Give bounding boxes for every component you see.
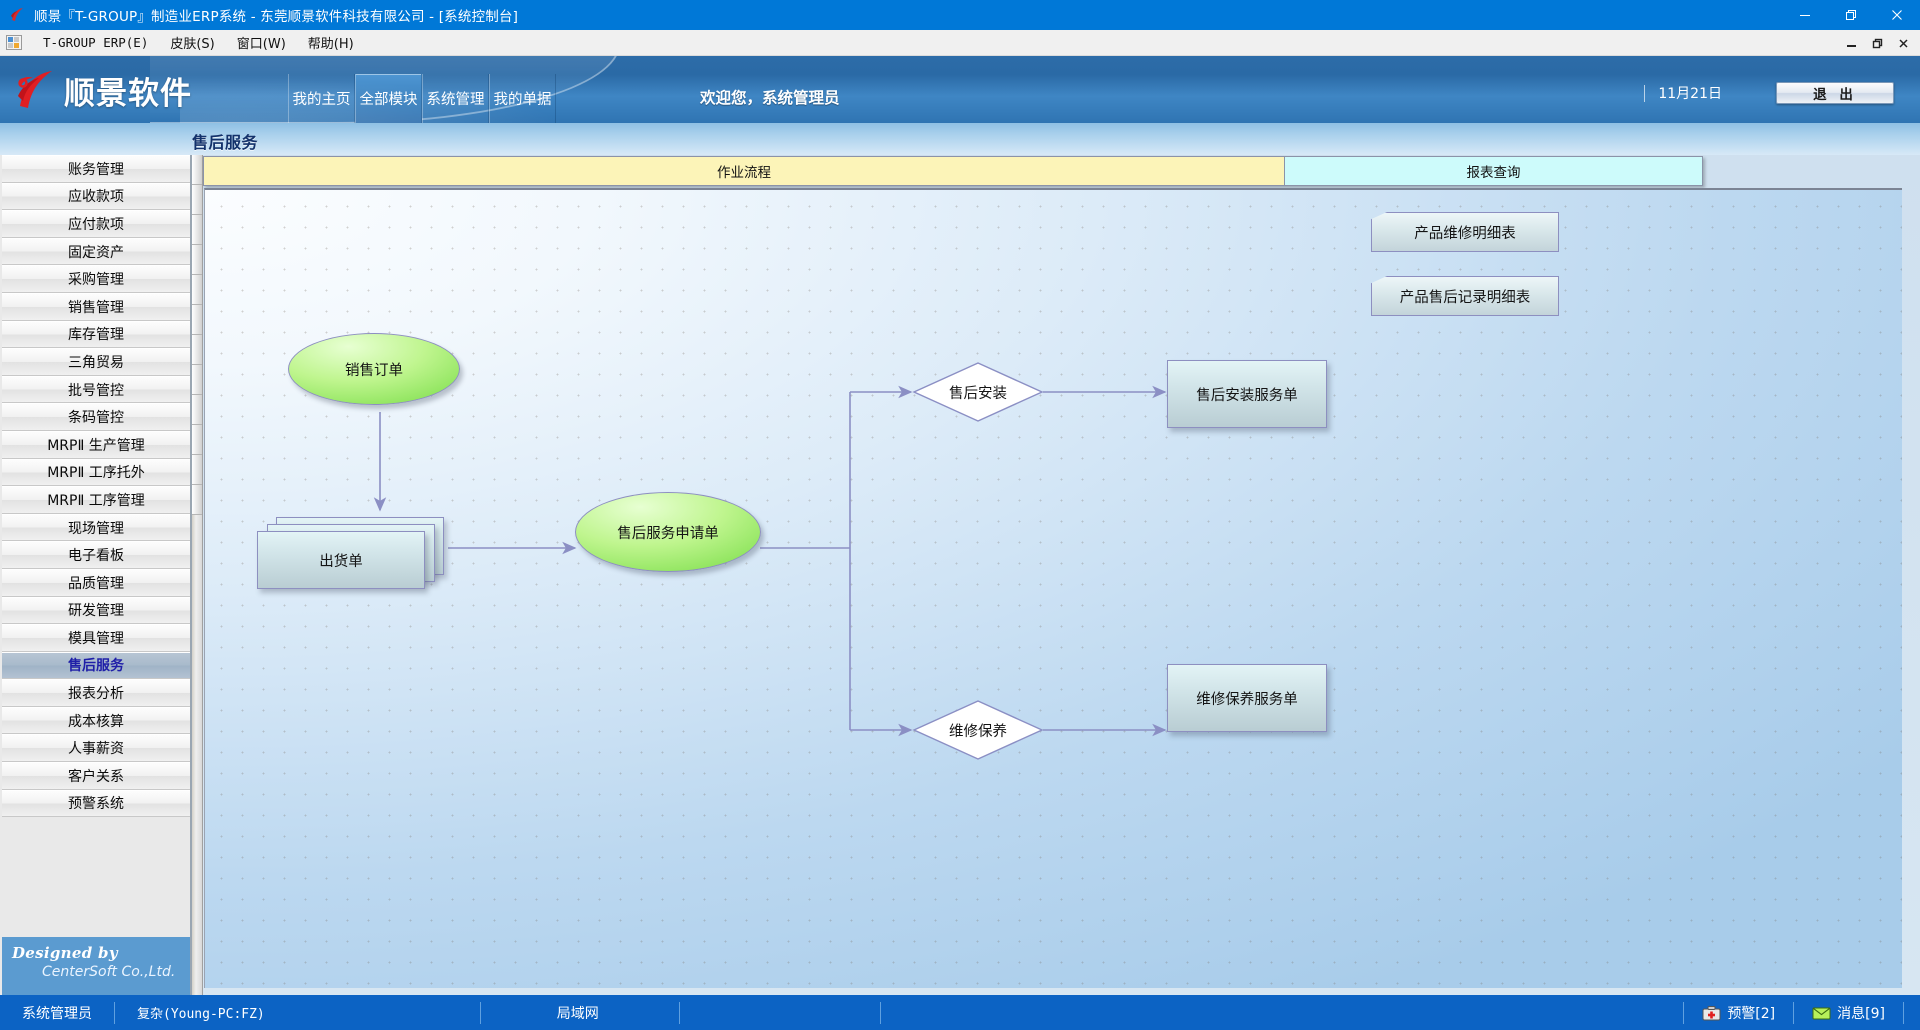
sidebar-item-label: MRPⅡ 生产管理 (47, 435, 145, 455)
sidebar-item-label: 品质管理 (68, 573, 124, 593)
sidebar-item-label: 人事薪资 (68, 738, 124, 758)
sidebar-item-2[interactable]: 应付款项 (2, 210, 190, 238)
status-user: 系统管理员 (22, 1003, 92, 1023)
status-divider (1793, 1002, 1794, 1024)
brand-logo: 顺景软件 (14, 66, 192, 114)
tab-work-flow-label: 作业流程 (717, 161, 771, 181)
sidebar-menu-list: 账务管理应收款项应付款项固定资产采购管理销售管理库存管理三角贸易批号管控条码管控… (2, 155, 190, 817)
status-divider (1683, 1002, 1684, 1024)
sidebar-item-15[interactable]: 品质管理 (2, 569, 190, 597)
report-button-after-sales-record[interactable]: 产品售后记录明细表 (1371, 276, 1559, 316)
sidebar-item-label: 三角贸易 (68, 352, 124, 372)
sidebar-item-label: 采购管理 (68, 269, 124, 289)
sidebar-item-label: 研发管理 (68, 600, 124, 620)
sidebar-item-22[interactable]: 客户关系 (2, 762, 190, 790)
status-messages-label: 消息[9] (1837, 1003, 1885, 1023)
header-divider (1644, 85, 1645, 102)
report-button-repair-detail[interactable]: 产品维修明细表 (1371, 212, 1559, 252)
sidebar-item-label: 销售管理 (68, 297, 124, 317)
flow-node-service-request[interactable]: 售后服务申请单 (575, 492, 761, 572)
menu-item-window[interactable]: 窗口(W) (226, 31, 297, 54)
flow-node-shipment-note-label: 出货单 (319, 550, 363, 571)
tab-report-query-label: 报表查询 (1467, 161, 1521, 181)
sidebar-item-16[interactable]: 研发管理 (2, 597, 190, 625)
scroll-seg (192, 155, 202, 185)
sidebar-item-label: 现场管理 (68, 518, 124, 538)
sidebar-item-0[interactable]: 账务管理 (2, 155, 190, 183)
alert-kit-icon (1702, 1005, 1721, 1021)
mdi-close-icon[interactable] (1890, 30, 1916, 56)
mail-icon (1812, 1005, 1831, 1021)
sidebar-item-label: 客户关系 (68, 766, 124, 786)
welcome-message: 欢迎您，系统管理员 (700, 86, 840, 108)
nav-tab-my-documents-label: 我的单据 (494, 88, 552, 109)
nav-tab-home[interactable]: 我的主页 (288, 74, 355, 123)
status-divider (480, 1002, 481, 1024)
brand-header: 顺景软件 我的主页 全部模块 系统管理 我的单据 欢迎您，系统管理员 11月21… (0, 56, 1920, 123)
flow-node-install-order[interactable]: 售后安装服务单 (1167, 360, 1327, 428)
nav-tab-all-modules-label: 全部模块 (360, 88, 418, 109)
shunjing-logo-icon (14, 68, 58, 112)
sidebar-item-label: 售后服务 (68, 655, 124, 675)
page-title: 售后服务 (192, 129, 258, 153)
sidebar-item-21[interactable]: 人事薪资 (2, 734, 190, 762)
sidebar-item-label: 库存管理 (68, 324, 124, 344)
sidebar-item-13[interactable]: 现场管理 (2, 514, 190, 542)
status-network: 局域网 (557, 1003, 599, 1023)
sidebar-item-label: 应付款项 (68, 214, 124, 234)
scroll-seg (192, 425, 202, 455)
sidebar-item-9[interactable]: 条码管控 (2, 403, 190, 431)
page-title-band (0, 123, 1920, 155)
sidebar-item-19[interactable]: 报表分析 (2, 679, 190, 707)
application-menu-bar: T-GROUP ERP(E) 皮肤(S) 窗口(W) 帮助(H) (0, 30, 1920, 56)
sidebar-item-1[interactable]: 应收款项 (2, 183, 190, 211)
sidebar-item-4[interactable]: 采购管理 (2, 265, 190, 293)
nav-tab-my-documents[interactable]: 我的单据 (489, 74, 556, 123)
status-divider (880, 1002, 881, 1024)
maximize-restore-icon[interactable] (1828, 0, 1874, 30)
minimize-icon[interactable] (1782, 0, 1828, 30)
flow-node-maintain-order-label: 维修保养服务单 (1196, 688, 1298, 709)
sidebar-item-12[interactable]: MRPⅡ 工序管理 (2, 486, 190, 514)
sidebar-item-23[interactable]: 预警系统 (2, 790, 190, 818)
status-divider (679, 1002, 680, 1024)
sidebar-item-5[interactable]: 销售管理 (2, 293, 190, 321)
sidebar-item-label: 账务管理 (68, 159, 124, 179)
status-divider (1903, 1002, 1904, 1024)
sidebar-item-label: MRPⅡ 工序管理 (47, 490, 145, 510)
tab-work-flow[interactable]: 作业流程 (203, 156, 1285, 186)
content-tab-row: 作业流程 报表查询 (203, 156, 1703, 186)
sidebar-item-18[interactable]: 售后服务 (2, 652, 190, 680)
sidebar-item-8[interactable]: 批号管控 (2, 376, 190, 404)
nav-tab-system-admin[interactable]: 系统管理 (422, 74, 489, 123)
sidebar-item-7[interactable]: 三角贸易 (2, 348, 190, 376)
flow-node-service-request-label: 售后服务申请单 (617, 522, 719, 543)
sidebar-item-label: 固定资产 (68, 242, 124, 262)
flow-node-install-decision[interactable]: 售后安装 (911, 360, 1045, 424)
mdi-restore-icon[interactable] (1864, 30, 1890, 56)
status-messages[interactable]: 消息[9] (1812, 1003, 1885, 1023)
status-database: 复杂(Young-PC:FZ) (137, 1003, 265, 1022)
flowchart-canvas: 销售订单 出货单 售后服务申请单 售后安装 维修保养 (204, 188, 1902, 988)
scroll-seg (192, 185, 202, 215)
nav-tab-system-admin-label: 系统管理 (427, 88, 485, 109)
flow-connectors (205, 190, 1902, 988)
brand-logo-text: 顺景软件 (64, 68, 192, 113)
sidebar-item-20[interactable]: 成本核算 (2, 707, 190, 735)
window-title-text: 顺景『T-GROUP』制造业ERP系统 - 东莞顺景软件科技有限公司 - [系统… (34, 5, 518, 25)
status-alerts[interactable]: 预警[2] (1702, 1003, 1775, 1023)
menu-item-help[interactable]: 帮助(H) (297, 31, 365, 54)
credit-line-2: CenterSoft Co.,Ltd. (42, 964, 190, 980)
nav-tab-home-label: 我的主页 (293, 88, 351, 109)
close-icon[interactable] (1874, 0, 1920, 30)
flow-node-maintain-decision[interactable]: 维修保养 (911, 698, 1045, 762)
logout-button-label: 退 出 (1813, 83, 1857, 103)
window-controls (1782, 0, 1920, 30)
flow-node-shipment-note[interactable]: 出货单 (257, 517, 449, 589)
status-alerts-label: 预警[2] (1727, 1003, 1775, 1023)
shipment-note-stack-front: 出货单 (257, 531, 425, 589)
scroll-seg (192, 305, 202, 335)
mdi-window-icon (6, 35, 22, 50)
window-title-bar: 顺景『T-GROUP』制造业ERP系统 - 东莞顺景软件科技有限公司 - [系统… (0, 0, 1920, 30)
menu-item-erp[interactable]: T-GROUP ERP(E) (32, 33, 159, 52)
app-logo-icon (10, 7, 26, 23)
sidebar-footer-credit: Designed by CenterSoft Co.,Ltd. (2, 937, 190, 995)
scroll-seg (192, 245, 202, 275)
flow-node-maintain-order[interactable]: 维修保养服务单 (1167, 664, 1327, 732)
credit-line-1: Designed by (12, 944, 190, 962)
report-button-repair-detail-label: 产品维修明细表 (1414, 222, 1516, 243)
sidebar-item-label: 条码管控 (68, 407, 124, 427)
sidebar-item-14[interactable]: 电子看板 (2, 541, 190, 569)
page-title-strip (0, 123, 1920, 155)
report-button-after-sales-record-label: 产品售后记录明细表 (1400, 286, 1531, 307)
sidebar-item-label: 电子看板 (68, 545, 124, 565)
main-panel: 作业流程 报表查询 (192, 155, 1920, 995)
sidebar-item-label: 模具管理 (68, 628, 124, 648)
flow-node-install-order-label: 售后安装服务单 (1196, 384, 1298, 405)
mdi-minimize-icon[interactable] (1838, 30, 1864, 56)
header-date: 11月21日 (1658, 83, 1722, 103)
scroll-seg (192, 275, 202, 305)
sidebar-item-17[interactable]: 模具管理 (2, 624, 190, 652)
sidebar-item-6[interactable]: 库存管理 (2, 321, 190, 349)
flow-node-maintain-decision-label: 维修保养 (911, 698, 1045, 762)
sidebar-item-label: 预警系统 (68, 793, 124, 813)
menu-item-skin[interactable]: 皮肤(S) (159, 31, 225, 54)
left-scroll-strip[interactable] (192, 155, 203, 995)
header-right-group: 11月21日 退 出 (1644, 82, 1894, 104)
sidebar-item-label: 报表分析 (68, 683, 124, 703)
scroll-seg (192, 215, 202, 245)
scroll-seg (192, 395, 202, 425)
scroll-seg (192, 485, 202, 515)
status-bar: 系统管理员 复杂(Young-PC:FZ) 局域网 预警[2] 消息[9] (0, 995, 1920, 1030)
status-divider (114, 1002, 115, 1024)
sidebar-item-3[interactable]: 固定资产 (2, 238, 190, 266)
logout-button[interactable]: 退 出 (1776, 82, 1894, 104)
flow-node-sales-order[interactable]: 销售订单 (288, 333, 460, 405)
sidebar-item-label: 应收款项 (68, 186, 124, 206)
flow-node-sales-order-label: 销售订单 (345, 359, 403, 380)
scroll-seg (192, 335, 202, 365)
flow-node-install-decision-label: 售后安装 (911, 360, 1045, 424)
nav-tab-all-modules[interactable]: 全部模块 (355, 74, 422, 123)
sidebar: 账务管理应收款项应付款项固定资产采购管理销售管理库存管理三角贸易批号管控条码管控… (0, 155, 192, 995)
tab-report-query[interactable]: 报表查询 (1285, 156, 1703, 186)
scroll-seg (192, 365, 202, 395)
sidebar-item-label: 成本核算 (68, 711, 124, 731)
header-nav: 我的主页 全部模块 系统管理 我的单据 (288, 74, 556, 123)
sidebar-item-11[interactable]: MRPⅡ 工序托外 (2, 459, 190, 487)
sidebar-item-label: MRPⅡ 工序托外 (47, 462, 145, 482)
mdi-window-controls (1838, 30, 1916, 56)
scroll-seg (192, 455, 202, 485)
sidebar-item-label: 批号管控 (68, 380, 124, 400)
sidebar-item-10[interactable]: MRPⅡ 生产管理 (2, 431, 190, 459)
